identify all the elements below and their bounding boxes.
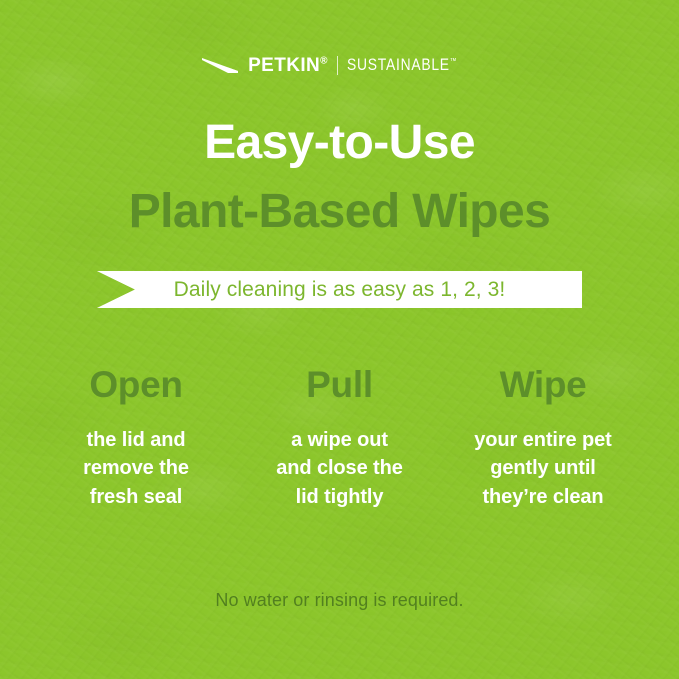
footer-text: No water or rinsing is required. xyxy=(0,591,679,609)
step-open-body: the lid and remove the fresh seal xyxy=(36,426,236,511)
ribbon-text: Daily cleaning is as easy as 1, 2, 3! xyxy=(174,279,506,300)
headline-block: Easy-to-Use Plant-Based Wipes xyxy=(0,118,679,238)
step-pull-body: a wipe out and close the lid tightly xyxy=(240,426,440,511)
headline-line-1: Easy-to-Use xyxy=(0,118,679,169)
step-pull-line-3: lid tightly xyxy=(240,483,440,511)
step-wipe-line-2: gently until xyxy=(443,454,643,482)
step-wipe: Wipe your entire pet gently until they’r… xyxy=(443,366,643,511)
petkin-swoosh-icon xyxy=(202,58,238,73)
brand-divider xyxy=(337,56,338,75)
step-pull-line-1: a wipe out xyxy=(240,426,440,454)
steps-row: Open the lid and remove the fresh seal P… xyxy=(36,366,643,511)
headline-line-2: Plant-Based Wipes xyxy=(0,187,679,238)
step-wipe-line-1: your entire pet xyxy=(443,426,643,454)
step-pull-title: Pull xyxy=(240,366,440,405)
step-pull-line-2: and close the xyxy=(240,454,440,482)
step-open-line-3: fresh seal xyxy=(36,483,236,511)
ribbon-banner: Daily cleaning is as easy as 1, 2, 3! xyxy=(97,271,582,308)
brand-subname-text: SUSTAINABLE xyxy=(347,56,450,74)
step-open-title: Open xyxy=(36,366,236,405)
step-wipe-body: your entire pet gently until they’re cle… xyxy=(443,426,643,511)
step-wipe-title: Wipe xyxy=(443,366,643,405)
step-pull: Pull a wipe out and close the lid tightl… xyxy=(240,366,440,511)
brand-lockup: PETKIN® SUSTAINABLE™ xyxy=(0,56,679,75)
footer-block: No water or rinsing is required. xyxy=(0,591,679,609)
step-open-line-2: remove the xyxy=(36,454,236,482)
trademark-mark: ™ xyxy=(449,57,456,66)
ribbon-banner-shape: Daily cleaning is as easy as 1, 2, 3! xyxy=(97,271,582,308)
step-open-line-1: the lid and xyxy=(36,426,236,454)
brand-name-text: PETKIN xyxy=(248,55,320,76)
step-open: Open the lid and remove the fresh seal xyxy=(36,366,236,511)
poster: PETKIN® SUSTAINABLE™ Easy-to-Use Plant-B… xyxy=(0,0,679,679)
registered-mark: ® xyxy=(320,56,327,67)
poster-content: PETKIN® SUSTAINABLE™ Easy-to-Use Plant-B… xyxy=(0,0,679,679)
brand-name: PETKIN® xyxy=(248,56,327,75)
brand-subname: SUSTAINABLE™ xyxy=(347,57,457,74)
step-wipe-line-3: they’re clean xyxy=(443,483,643,511)
